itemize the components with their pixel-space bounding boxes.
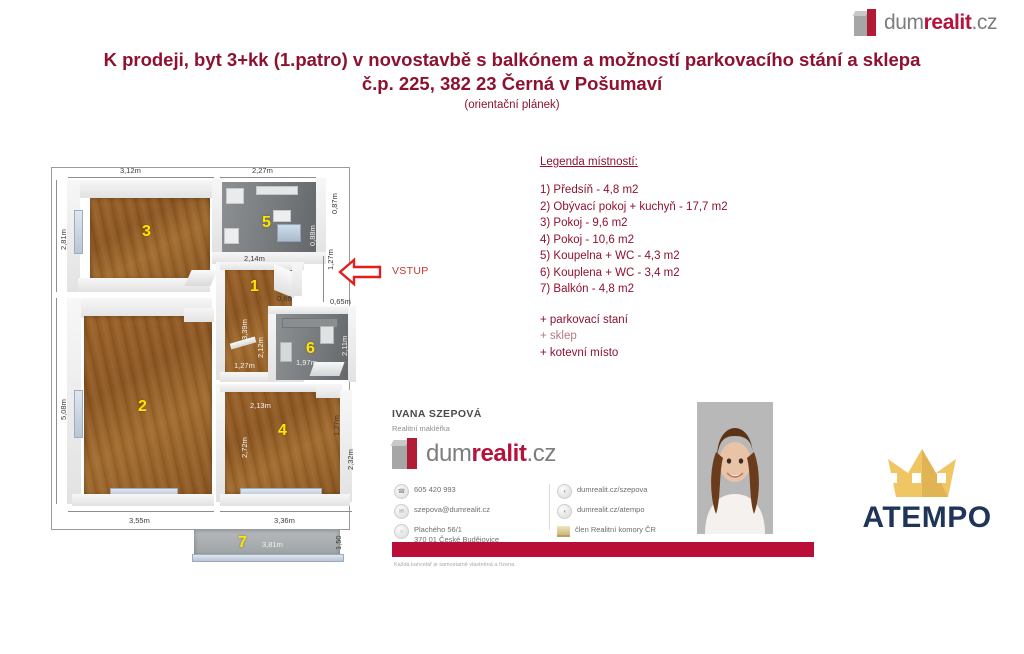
- room-number-6: 6: [306, 340, 315, 358]
- room6-mirror: [320, 326, 334, 344]
- legend-extra-item: + kotevní místo: [540, 345, 840, 362]
- agent-name: IVANA SZEPOVÁ: [392, 408, 482, 420]
- contact-web-agent-text: dumrealit.cz/szepova: [577, 484, 647, 495]
- contact-membership: člen Realitní komory ČR: [557, 524, 656, 537]
- room5-sink: [273, 210, 291, 222]
- room4-wall-left: [216, 384, 225, 502]
- dumrealit-mark-icon: [392, 438, 422, 469]
- logo-prefix: dum: [426, 440, 472, 467]
- globe-icon: ◖: [557, 504, 572, 519]
- atempo-logo: ATEMPO: [852, 443, 1002, 538]
- logo-accent: realit: [924, 11, 972, 34]
- phone-icon: ☎: [394, 484, 409, 499]
- dim-room4-right-b: 2,32m: [346, 449, 355, 470]
- contact-email-text: szepova@dumrealit.cz: [414, 504, 490, 515]
- room-number-4: 4: [278, 422, 287, 440]
- legend-item: 1) Předsíň - 4,8 m2: [540, 182, 840, 199]
- dumrealit-logo-card: dumrealit.cz: [392, 438, 556, 469]
- room-legend: Legenda místností: 1) Předsíň - 4,8 m2 2…: [540, 156, 840, 361]
- dim-balcony-height: 1,50: [334, 535, 343, 550]
- room4-wall-right: [340, 390, 352, 502]
- agent-role: Realitní makléřka: [392, 424, 450, 433]
- legend-item: 4) Pokoj - 10,6 m2: [540, 232, 840, 249]
- contact-email[interactable]: ✉ szepova@dumrealit.cz: [394, 504, 499, 519]
- dimline-room5-top: [220, 177, 316, 178]
- agent-contact-card: IVANA SZEPOVÁ Realitní makléřka dumreali…: [392, 400, 814, 572]
- room7-rail: [192, 554, 344, 562]
- address-line-1: Plachého 56/1: [414, 525, 462, 534]
- dim-room3-width: 3,12m: [120, 166, 141, 175]
- contact-column-left: ☎ 605 420 993 ✉ szepova@dumrealit.cz ○ P…: [394, 484, 499, 549]
- room5-cabinet: [226, 188, 244, 204]
- room3-wall-back: [78, 180, 214, 198]
- atempo-wordmark: ATEMPO: [852, 501, 1002, 535]
- contact-web-office-text: dumrealit.cz/atempo: [577, 504, 645, 515]
- dim-room5-right-b: 0,88m: [308, 225, 317, 246]
- contact-address-text: Plachého 56/1 370 01 České Budějovice: [414, 524, 499, 544]
- room5-shower: [277, 224, 301, 242]
- dim-room2-width: 3,55m: [129, 516, 150, 525]
- room2-floor: [84, 316, 212, 496]
- dimline-room3-top: [68, 177, 214, 178]
- room6-wall-top: [268, 306, 352, 314]
- logo-suffix: .cz: [971, 11, 997, 34]
- room4-notch: [316, 384, 342, 398]
- dim-room6-top: 0,65m: [330, 297, 351, 306]
- legend-extra-item: + parkovací staní: [540, 312, 840, 329]
- room1-wall-right: [292, 262, 302, 296]
- card-disclaimer: Každá kancelář je samostatně vlastněná a…: [394, 562, 516, 568]
- room2-wall-front: [72, 494, 214, 506]
- dimline-room3-left: [56, 180, 57, 292]
- dim-room1-inner-w: 1,27m: [234, 361, 255, 370]
- envelope-icon: ✉: [394, 504, 409, 519]
- page-title: K prodeji, byt 3+kk (1.patro) v novostav…: [0, 48, 1024, 114]
- legend-extras-list: + parkovací staní + sklep + kotevní míst…: [540, 312, 840, 362]
- room5-bath-tub: [256, 186, 298, 195]
- dim-balcony-width: 3,81m: [262, 540, 283, 549]
- contact-web-office[interactable]: ◖ dumrealit.cz/atempo: [557, 504, 656, 519]
- contact-membership-text: člen Realitní komory ČR: [575, 524, 656, 535]
- contact-column-right: ◖ dumrealit.cz/szepova ◖ dumrealit.cz/at…: [557, 484, 656, 542]
- room2-niche: [184, 308, 214, 322]
- dim-room4-right-a: 1,27m: [332, 415, 341, 436]
- title-line-1: K prodeji, byt 3+kk (1.patro) v novostav…: [0, 48, 1024, 72]
- dim-room4-height: 2,72m: [240, 437, 249, 458]
- dim-room5-right-a: 0,87m: [330, 193, 339, 214]
- dumrealit-wordmark: dumrealit.cz: [884, 12, 997, 33]
- legend-room-list: 1) Předsíň - 4,8 m2 2) Obývací pokoj + k…: [540, 182, 840, 298]
- legend-item: 2) Obývací pokoj + kuchyň - 17,7 m2: [540, 199, 840, 216]
- room6-wall-right: [348, 306, 356, 382]
- dim-room1-door: 0,86: [277, 294, 292, 303]
- legend-item: 7) Balkón - 4,8 m2: [540, 281, 840, 298]
- dim-room1-inner-h: 2,12m: [256, 337, 265, 358]
- dimline-room2-left: [56, 298, 57, 504]
- title-subtitle: (orientační plánek): [0, 96, 1024, 114]
- logo-prefix: dum: [884, 11, 924, 34]
- dumrealit-logo-header: dumrealit.cz: [854, 6, 1014, 38]
- logo-suffix: .cz: [526, 440, 555, 467]
- dim-room1-height: 3,39m: [240, 319, 249, 340]
- room-number-2: 2: [138, 398, 147, 416]
- dimline-room4-bottom: [220, 511, 352, 512]
- room-number-3: 3: [142, 223, 151, 241]
- legend-item: 6) Kouplena + WC - 3,4 m2: [540, 265, 840, 282]
- dim-room6-width: 1,97m: [296, 358, 317, 367]
- room-number-5: 5: [262, 214, 271, 232]
- room-number-1: 1: [250, 278, 259, 296]
- globe-icon: ◖: [557, 484, 572, 499]
- dim-room4-width: 2,13m: [250, 401, 271, 410]
- title-line-2: č.p. 225, 382 23 Černá v Pošumaví: [0, 72, 1024, 96]
- logo-accent: realit: [472, 440, 527, 467]
- room5-wc: [224, 228, 239, 244]
- room4-wall-top: [220, 384, 318, 392]
- card-accent-bar: [392, 542, 814, 557]
- dim-room1-width: 2,14m: [244, 254, 265, 263]
- legend-extra-item: + sklep: [540, 328, 840, 345]
- room6-wc: [280, 342, 292, 362]
- contact-web-agent[interactable]: ◖ dumrealit.cz/szepova: [557, 484, 656, 499]
- dim-room3-height: 2,81m: [59, 229, 68, 250]
- contact-divider: [549, 484, 550, 530]
- room2-window: [74, 390, 83, 438]
- dim-entry-side: 1,27m: [326, 249, 335, 270]
- dim-room5-width: 2,27m: [252, 166, 273, 175]
- entry-label: VSTUP: [392, 265, 429, 277]
- legend-item: 3) Pokoj - 9,6 m2: [540, 215, 840, 232]
- entry-arrow-icon: [338, 257, 382, 287]
- dumrealit-wordmark: dumrealit.cz: [426, 442, 556, 466]
- legend-item: 5) Koupelna + WC - 4,3 m2: [540, 248, 840, 265]
- room6-wall-left: [268, 308, 276, 382]
- pin-icon: ○: [394, 524, 409, 539]
- room4-wall-front: [220, 494, 350, 506]
- dim-room2-height: 5,08m: [59, 399, 68, 420]
- agent-photo: [697, 402, 773, 534]
- room-number-7: 7: [238, 534, 247, 552]
- floor-plan-drawing: 3 3,12m 2,81m 5 2,27m 0,87m 0,88m 1 2,14…: [34, 158, 374, 568]
- dimline-entry-side: [323, 256, 324, 302]
- room1-wall-left: [216, 262, 225, 380]
- contact-address: ○ Plachého 56/1 370 01 České Budějovice: [394, 524, 499, 544]
- contact-phone-text: 605 420 993: [414, 484, 456, 495]
- crown-icon: [852, 443, 1002, 501]
- dim-room6-height: 2,11m: [340, 336, 349, 356]
- room3-window: [74, 210, 83, 254]
- legend-heading: Legenda místností:: [540, 156, 840, 168]
- room5-wall-right: [316, 178, 326, 258]
- dimline-room2-bottom: [68, 511, 214, 512]
- contact-phone[interactable]: ☎ 605 420 993: [394, 484, 499, 499]
- dumrealit-mark-icon: [854, 9, 880, 36]
- dim-bottom-right-width: 3,36m: [274, 516, 295, 525]
- certificate-icon: [557, 526, 570, 537]
- room5-wall-left: [212, 178, 222, 254]
